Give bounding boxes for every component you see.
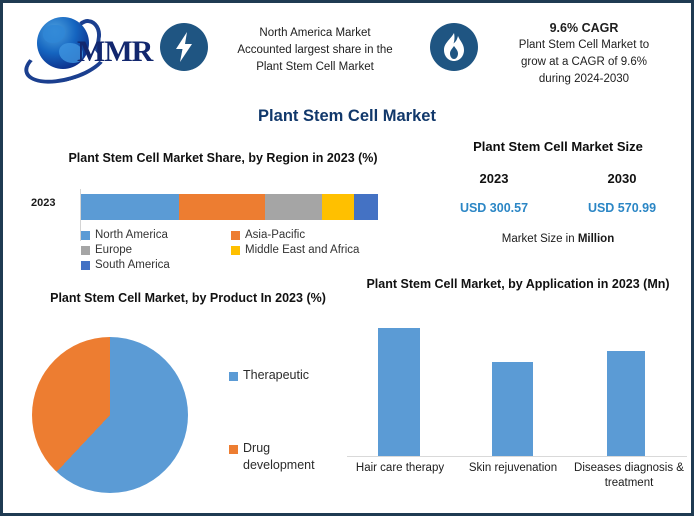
cagr-headline: 9.6% CAGR xyxy=(490,20,678,37)
page-title: Plant Stem Cell Market xyxy=(3,107,691,126)
legend-label: Therapeutic xyxy=(243,367,309,384)
badge1-line1: North America Market xyxy=(219,25,411,42)
logo-text: MMR xyxy=(77,35,152,69)
region-legend-col1: North America Europe South America xyxy=(81,229,170,274)
market-size-year-2030: 2030 xyxy=(567,171,677,186)
pie-chart-title: Plant Stem Cell Market, by Product In 20… xyxy=(43,289,333,307)
north-america-badge-text: North America Market Accounted largest s… xyxy=(219,25,411,76)
legend-label: North America xyxy=(95,229,168,241)
application-plot-area xyxy=(343,321,693,457)
pie-legend: Therapeutic Drug development xyxy=(229,367,325,474)
footnote-prefix: Market Size in xyxy=(502,233,578,245)
market-size-title: Plant Stem Cell Market Size xyxy=(423,139,693,154)
flame-icon xyxy=(430,23,478,71)
badge2-line1: Plant Stem Cell Market to xyxy=(490,37,678,54)
legend-item-europe: Europe xyxy=(81,244,170,256)
bar-hair-care-therapy xyxy=(378,328,420,457)
application-axis-line xyxy=(347,456,687,457)
region-segment xyxy=(81,194,179,220)
market-size-value-2030: USD 570.99 xyxy=(567,201,677,215)
badge1-line2: Accounted largest share in the xyxy=(219,42,411,59)
x-label-skin-rejuvenation: Skin rejuvenation xyxy=(455,461,571,476)
lightning-bolt-icon xyxy=(160,23,208,71)
region-category-label: 2023 xyxy=(31,197,55,209)
bar-skin-rejuvenation xyxy=(492,362,533,457)
legend-swatch-icon xyxy=(229,372,238,381)
region-chart-title: Plant Stem Cell Market Share, by Region … xyxy=(63,149,383,167)
x-label-diseases-diagnosis: Diseases diagnosis & treatment xyxy=(571,461,687,491)
legend-swatch-icon xyxy=(231,246,240,255)
badge1-line3: Plant Stem Cell Market xyxy=(219,59,411,76)
header: MMR North America Market Accounted large… xyxy=(3,3,691,95)
market-size-year-2023: 2023 xyxy=(439,171,549,186)
region-legend-col2: Asia-Pacific Middle East and Africa xyxy=(231,229,359,259)
legend-swatch-icon xyxy=(81,246,90,255)
pie-chart-graphic xyxy=(32,337,188,493)
legend-item-middle-east-africa: Middle East and Africa xyxy=(231,244,359,256)
badge2-line2: grow at a CAGR of 9.6% xyxy=(490,54,678,71)
legend-swatch-icon xyxy=(81,261,90,270)
legend-label: Middle East and Africa xyxy=(245,244,359,256)
badge2-line3: during 2024-2030 xyxy=(490,71,678,88)
infographic-page: MMR North America Market Accounted large… xyxy=(0,0,694,516)
application-chart-title: Plant Stem Cell Market, by Application i… xyxy=(353,275,683,293)
pie-legend-item-therapeutic: Therapeutic xyxy=(229,367,325,384)
legend-label: Drug development xyxy=(243,440,325,474)
footnote-unit: Million xyxy=(578,233,614,245)
legend-label: South America xyxy=(95,259,170,271)
x-label-hair-care-therapy: Hair care therapy xyxy=(345,461,455,476)
region-stacked-bar xyxy=(81,194,378,220)
market-size-value-2023: USD 300.57 xyxy=(439,201,549,215)
pie-legend-item-drug-development: Drug development xyxy=(229,440,325,474)
bar-diseases-diagnosis xyxy=(607,351,645,457)
region-segment xyxy=(354,194,378,220)
legend-swatch-icon xyxy=(229,445,238,454)
legend-item-north-america: North America xyxy=(81,229,170,241)
region-segment xyxy=(265,194,321,220)
legend-swatch-icon xyxy=(81,231,90,240)
legend-item-south-america: South America xyxy=(81,259,170,271)
region-segment xyxy=(179,194,265,220)
market-size-footnote: Market Size in Million xyxy=(423,233,693,245)
legend-label: Asia-Pacific xyxy=(245,229,305,241)
legend-swatch-icon xyxy=(231,231,240,240)
region-segment xyxy=(322,194,355,220)
legend-label: Europe xyxy=(95,244,132,256)
mmr-logo: MMR xyxy=(21,11,156,73)
cagr-badge-text: 9.6% CAGR Plant Stem Cell Market to grow… xyxy=(490,20,678,88)
legend-item-asia-pacific: Asia-Pacific xyxy=(231,229,359,241)
